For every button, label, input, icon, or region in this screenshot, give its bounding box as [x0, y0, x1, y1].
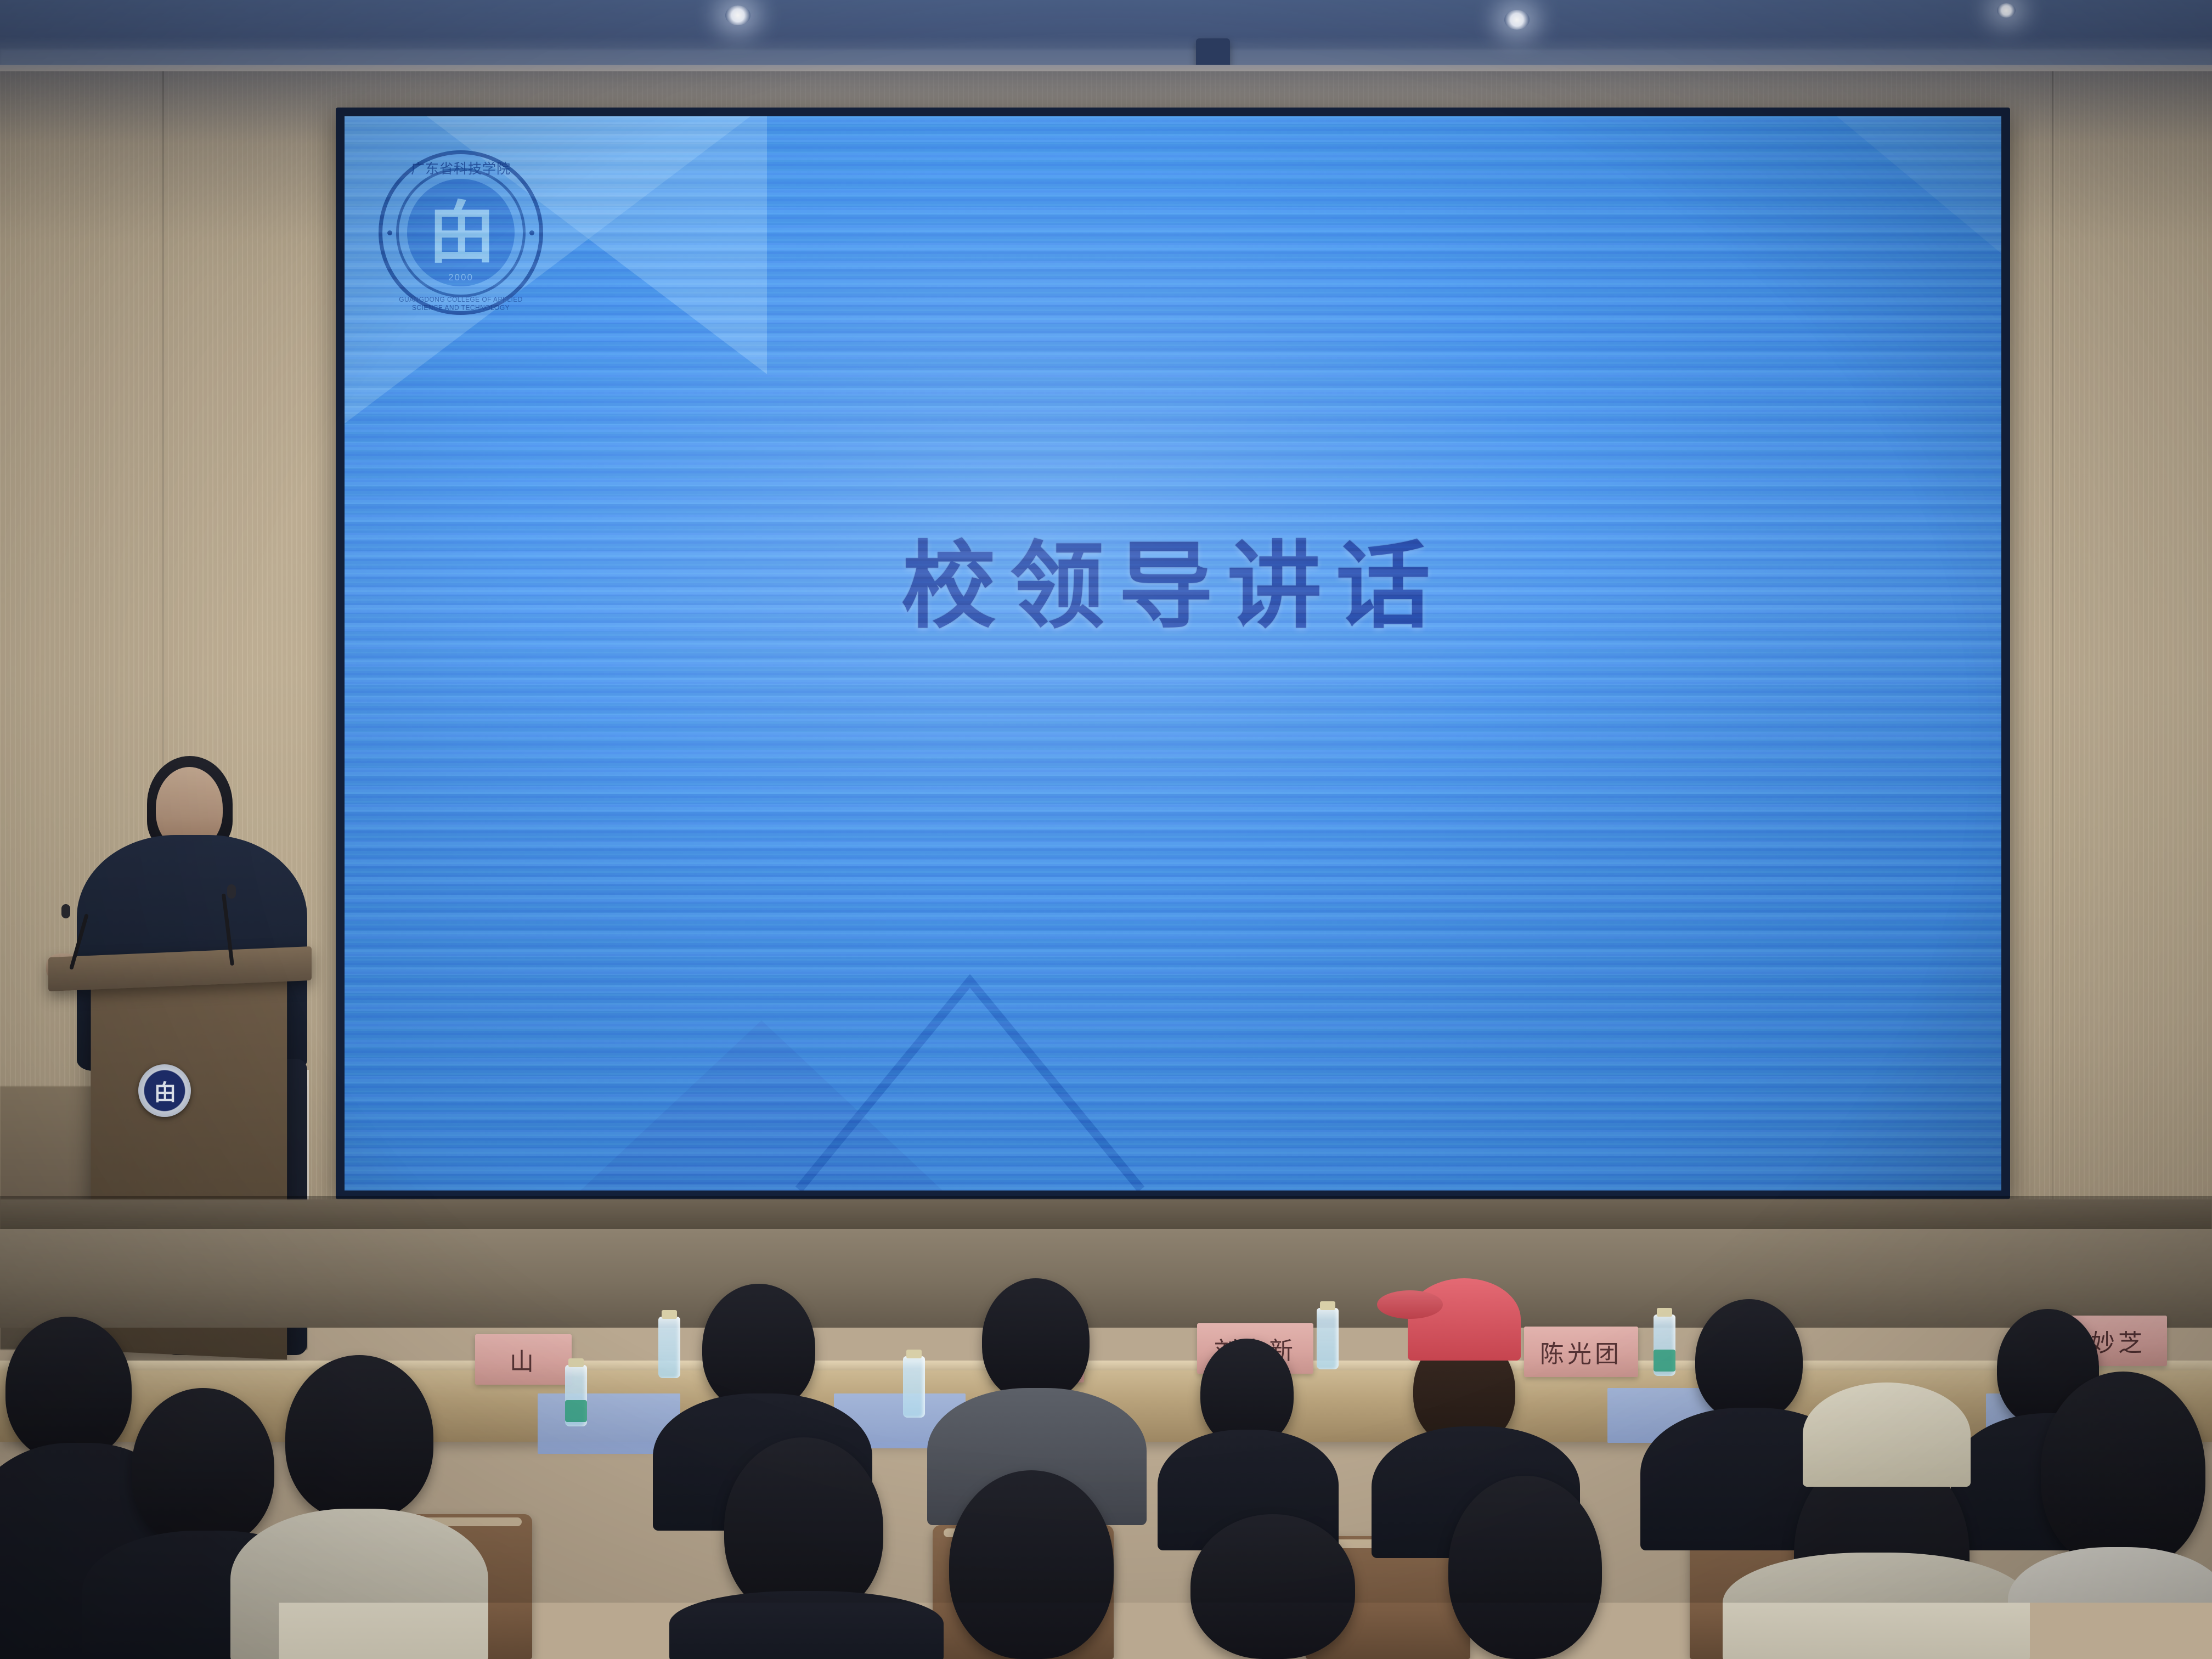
name-card: 山	[475, 1334, 572, 1385]
ceiling-downlight	[725, 5, 751, 25]
audience-head	[1448, 1476, 1602, 1659]
university-emblem: 广东省科技学院 甶 2000 GUANGDONG COLLEGE OF APPL…	[379, 150, 543, 315]
decorative-triangle-top-right	[1837, 116, 2001, 253]
audience-head	[5, 1317, 132, 1460]
cap-brim	[1377, 1290, 1443, 1319]
projection-screen-frame: 广东省科技学院 甶 2000 GUANGDONG COLLEGE OF APPL…	[336, 108, 2010, 1199]
emblem-year: 2000	[379, 272, 543, 283]
audience-shoulders	[230, 1509, 488, 1659]
audience-head	[1695, 1299, 1803, 1421]
ceiling-downlight	[1997, 3, 2016, 18]
slide-title: 校领导讲话	[345, 539, 2001, 633]
name-card-text: 陈光团	[1540, 1334, 1622, 1369]
water-bottle	[1654, 1314, 1675, 1376]
projection-screen: 广东省科技学院 甶 2000 GUANGDONG COLLEGE OF APPL…	[345, 116, 2001, 1190]
ceiling-downlight	[1504, 10, 1530, 30]
name-card-text: 妙芝	[2091, 1323, 2146, 1358]
name-card-text: 山	[510, 1342, 537, 1377]
water-bottle	[658, 1317, 680, 1378]
microphone-right-head	[227, 884, 236, 899]
stage-riser-face	[0, 1229, 2212, 1328]
audience-shoulders	[2008, 1547, 2212, 1659]
audience-head	[949, 1470, 1114, 1659]
auditorium-photo: 广东省科技学院 甶 2000 GUANGDONG COLLEGE OF APPL…	[0, 0, 2212, 1659]
audience-head	[2041, 1372, 2205, 1569]
cap-icon	[1408, 1278, 1521, 1361]
audience-head	[132, 1388, 274, 1547]
audience-head	[702, 1284, 815, 1411]
audience-head	[1190, 1514, 1355, 1659]
water-bottle	[903, 1356, 925, 1418]
audience-shoulders	[669, 1591, 944, 1659]
microphone-left-head	[61, 904, 70, 918]
audience-shoulders	[1723, 1553, 2030, 1659]
water-bottle	[1317, 1308, 1339, 1369]
podium-emblem-glyph: 甶	[154, 1075, 175, 1107]
audience-head	[982, 1278, 1090, 1401]
wall-panel-seam	[2052, 71, 2053, 1278]
cap-icon	[1803, 1383, 1971, 1487]
emblem-chinese-name: 广东省科技学院	[379, 158, 543, 178]
emblem-dot-right	[529, 230, 534, 235]
audience-head	[285, 1355, 433, 1520]
emblem-glyph: 甶	[407, 179, 515, 286]
decorative-mountain-outline	[789, 971, 1151, 1190]
water-bottle	[565, 1365, 587, 1426]
emblem-dot-left	[387, 230, 392, 235]
name-card: 陈光团	[1524, 1327, 1638, 1377]
podium-emblem: 甶	[138, 1064, 191, 1117]
emblem-english-name: GUANGDONG COLLEGE OF APPLIED SCIENCE AND…	[385, 295, 537, 312]
